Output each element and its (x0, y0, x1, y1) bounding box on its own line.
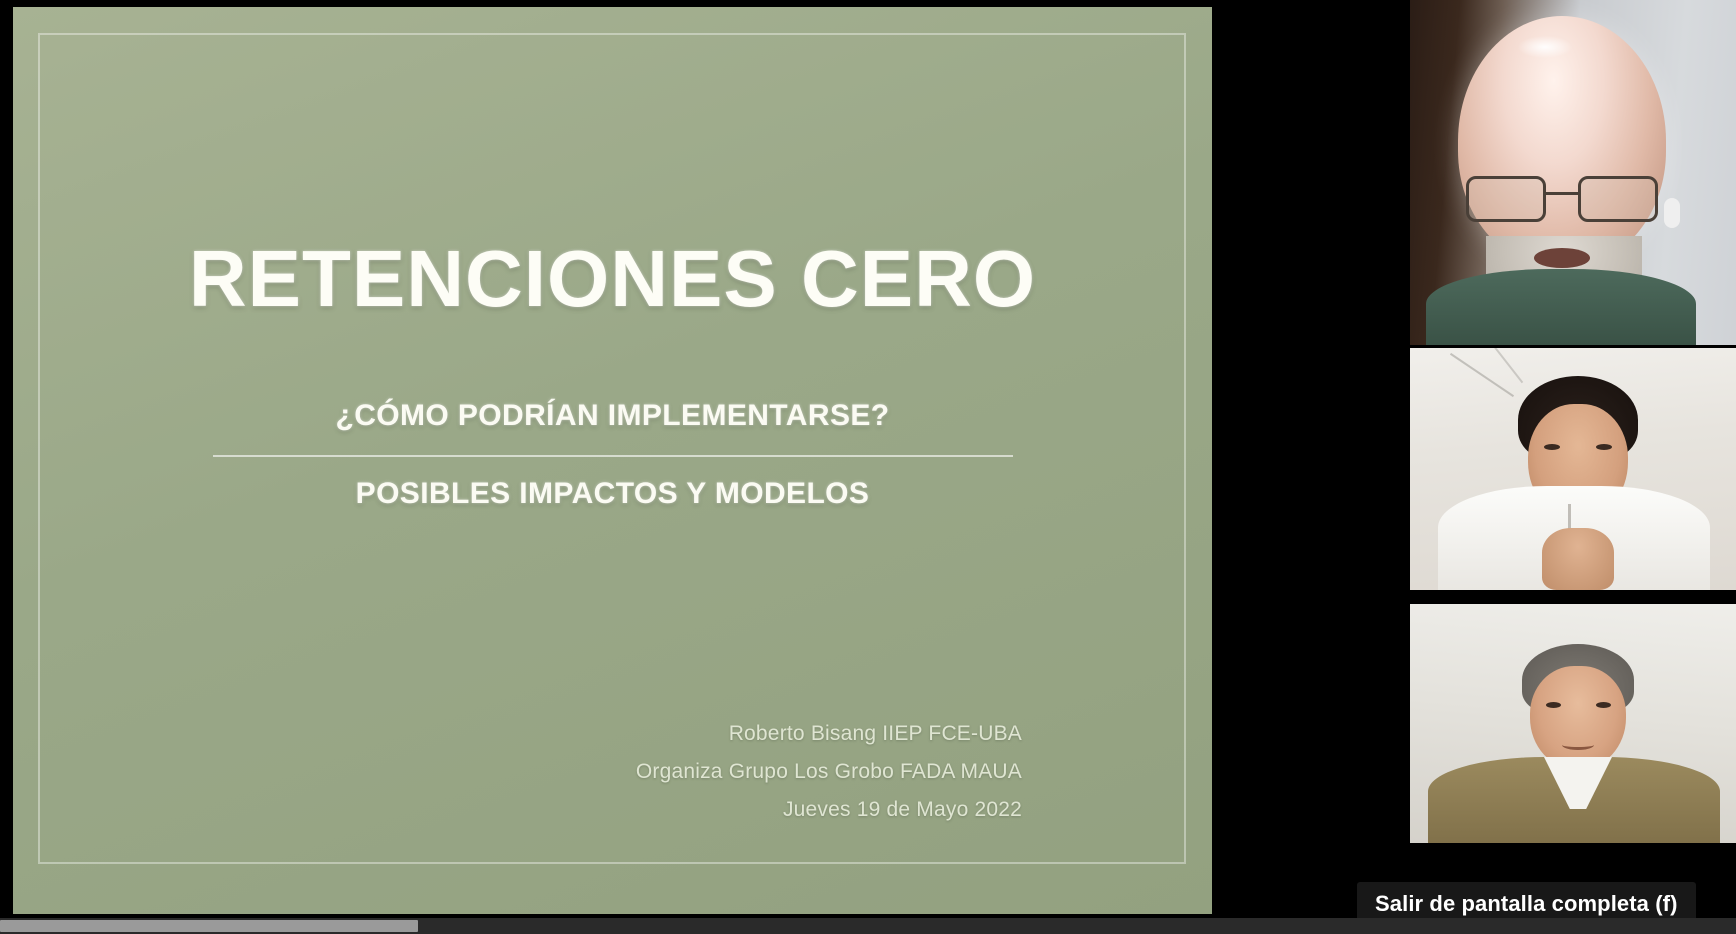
slide-title: RETENCIONES CERO (13, 239, 1212, 319)
scrollbar-thumb[interactable] (0, 920, 418, 932)
horizontal-scrollbar[interactable] (0, 918, 1736, 934)
tile-3-face (1530, 666, 1626, 770)
tile-1-lens-left (1466, 176, 1546, 222)
tile-2-eye-right (1596, 444, 1612, 450)
slide-content: RETENCIONES CERO ¿CÓMO PODRÍAN IMPLEMENT… (13, 7, 1212, 914)
glasses-icon (1464, 176, 1660, 224)
participant-tile-2[interactable] (1410, 348, 1736, 590)
presentation-slide[interactable]: RETENCIONES CERO ¿CÓMO PODRÍAN IMPLEMENT… (13, 7, 1212, 914)
attribution-date: Jueves 19 de Mayo 2022 (636, 791, 1022, 829)
attribution-organizer: Organiza Grupo Los Grobo FADA MAUA (636, 753, 1022, 791)
slide-subtitle-line-2: POSIBLES IMPACTOS Y MODELOS (13, 477, 1212, 511)
earbud-icon (1664, 198, 1680, 228)
subtitle-divider (213, 455, 1013, 457)
slide-attribution-block: Roberto Bisang IIEP FCE-UBA Organiza Gru… (636, 715, 1022, 830)
participant-tile-1[interactable] (1410, 0, 1736, 345)
tile-3-mouth (1562, 740, 1594, 750)
tile-1-lens-right (1578, 176, 1658, 222)
participant-video-strip (1410, 0, 1736, 934)
slide-subtitle-block: ¿CÓMO PODRÍAN IMPLEMENTARSE? POSIBLES IM… (13, 399, 1212, 510)
tile-1-torso (1426, 269, 1696, 345)
tile-1-highlight (1518, 36, 1572, 58)
tile-2-clasped-hands (1542, 528, 1614, 590)
tile-1-mouth (1534, 248, 1590, 268)
slide-subtitle-line-1: ¿CÓMO PODRÍAN IMPLEMENTARSE? (13, 399, 1212, 433)
tile-3-eye-left (1546, 702, 1561, 708)
attribution-author: Roberto Bisang IIEP FCE-UBA (636, 715, 1022, 753)
tile-2-eye-left (1544, 444, 1560, 450)
tile-3-eye-right (1596, 702, 1611, 708)
participant-tile-3[interactable] (1410, 604, 1736, 843)
tile-1-glasses-bridge (1546, 192, 1580, 195)
screen-share-viewport: RETENCIONES CERO ¿CÓMO PODRÍAN IMPLEMENT… (0, 0, 1736, 934)
